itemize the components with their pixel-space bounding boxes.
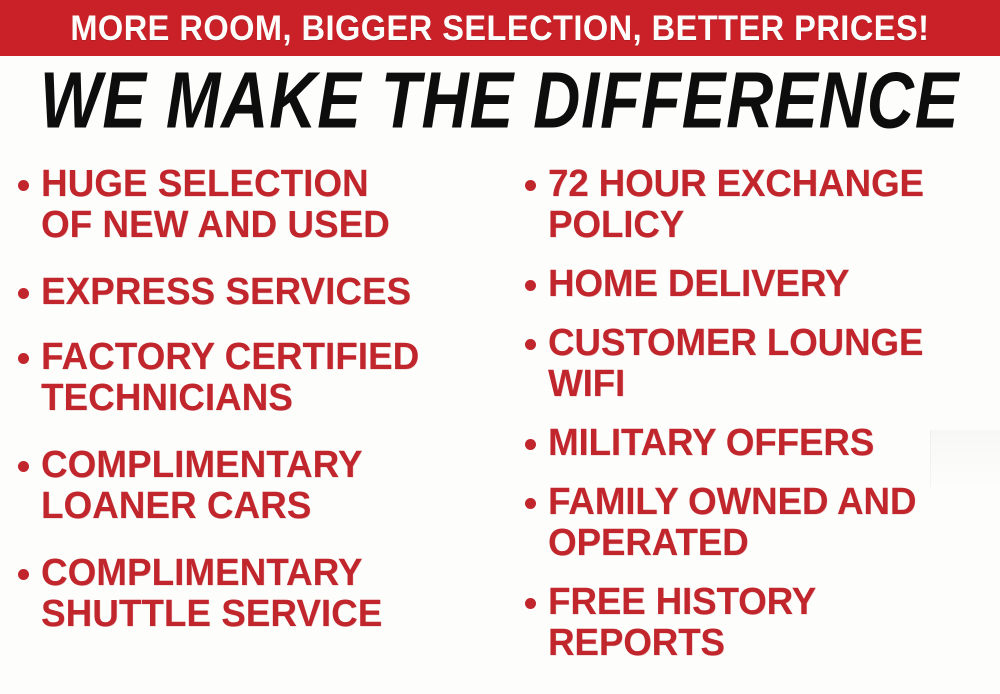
- bullet-dot-icon: [525, 280, 536, 291]
- benefit-label: FAMILY OWNED AND OPERATED: [548, 482, 916, 564]
- list-item: 72 HOUR EXCHANGE POLICY: [525, 164, 1000, 246]
- bullet-dot-icon: [18, 353, 29, 364]
- list-item: FAMILY OWNED AND OPERATED: [525, 482, 1000, 564]
- benefit-label: HUGE SELECTION OF NEW AND USED: [41, 164, 390, 246]
- dealership-promo-poster: MORE ROOM, BIGGER SELECTION, BETTER PRIC…: [0, 0, 1000, 694]
- bullet-dot-icon: [525, 439, 536, 450]
- top-banner: MORE ROOM, BIGGER SELECTION, BETTER PRIC…: [0, 0, 1000, 56]
- list-item: COMPLIMENTARY SHUTTLE SERVICE: [18, 553, 505, 635]
- benefit-label: CUSTOMER LOUNGE WIFI: [548, 323, 923, 405]
- bullet-dot-icon: [525, 498, 536, 509]
- list-item: FACTORY CERTIFIED TECHNICIANS: [18, 337, 505, 419]
- list-item: MILITARY OFFERS: [525, 423, 1000, 464]
- bullet-dot-icon: [18, 461, 29, 472]
- benefit-label: COMPLIMENTARY LOANER CARS: [41, 445, 362, 527]
- benefit-label: MILITARY OFFERS: [548, 423, 874, 464]
- benefit-label: HOME DELIVERY: [548, 264, 849, 305]
- headline-region: WE MAKE THE DIFFERENCE: [0, 62, 1000, 140]
- bullet-dot-icon: [525, 339, 536, 350]
- benefit-label: COMPLIMENTARY SHUTTLE SERVICE: [41, 553, 382, 635]
- bullet-dot-icon: [525, 598, 536, 609]
- main-headline: WE MAKE THE DIFFERENCE: [40, 61, 959, 141]
- benefits-column-right: 72 HOUR EXCHANGE POLICY HOME DELIVERY CU…: [505, 152, 1000, 694]
- banner-headline-text: MORE ROOM, BIGGER SELECTION, BETTER PRIC…: [70, 11, 929, 46]
- benefit-label: FREE HISTORY REPORTS: [548, 582, 816, 664]
- benefit-label: FACTORY CERTIFIED TECHNICIANS: [41, 337, 419, 419]
- bullet-dot-icon: [18, 180, 29, 191]
- benefit-label: 72 HOUR EXCHANGE POLICY: [548, 164, 924, 246]
- list-item: FREE HISTORY REPORTS: [525, 582, 1000, 664]
- benefits-column-left: HUGE SELECTION OF NEW AND USED EXPRESS S…: [0, 152, 505, 694]
- bullet-dot-icon: [525, 180, 536, 191]
- list-item: HOME DELIVERY: [525, 264, 1000, 305]
- list-item: HUGE SELECTION OF NEW AND USED: [18, 164, 505, 246]
- list-item: CUSTOMER LOUNGE WIFI: [525, 323, 1000, 405]
- list-item: COMPLIMENTARY LOANER CARS: [18, 445, 505, 527]
- list-item: EXPRESS SERVICES: [18, 272, 505, 313]
- bullet-dot-icon: [18, 569, 29, 580]
- benefits-columns: HUGE SELECTION OF NEW AND USED EXPRESS S…: [0, 152, 1000, 694]
- bullet-dot-icon: [18, 288, 29, 299]
- benefit-label: EXPRESS SERVICES: [41, 272, 411, 313]
